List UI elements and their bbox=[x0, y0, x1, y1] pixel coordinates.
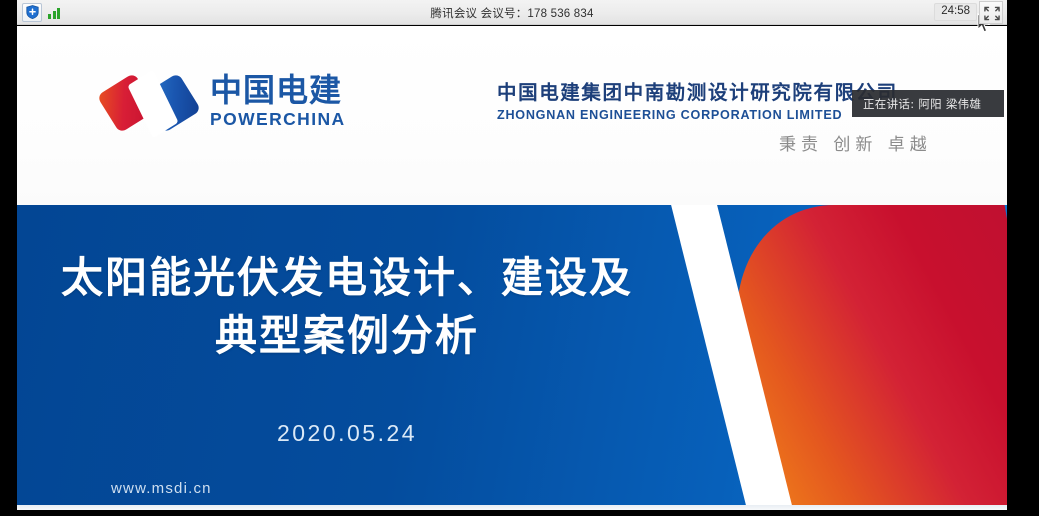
active-speaker-label: 正在讲话: 阿阳 梁伟雄 bbox=[863, 96, 981, 112]
slide-date: 2020.05.24 bbox=[17, 420, 677, 447]
exit-fullscreen-button[interactable] bbox=[979, 1, 1003, 24]
company-name-en: ZHONGNAN ENGINEERING CORPORATION LIMITED bbox=[497, 108, 898, 122]
slide-website-url: www.msdi.cn bbox=[111, 480, 212, 497]
powerchina-diamond-logo-icon bbox=[105, 73, 201, 135]
meeting-titlebar: 腾讯会议 会议号：178 536 834 24:58 bbox=[17, 0, 1007, 25]
active-speaker-toast: 正在讲话: 阿阳 梁伟雄 bbox=[852, 90, 1004, 117]
brand-lockup: 中国电建 POWERCHINA bbox=[210, 74, 346, 130]
exit-fullscreen-icon bbox=[980, 2, 1004, 25]
company-slogan: 秉责 创新 卓越 bbox=[779, 130, 932, 155]
titlebar-right-controls: 24:58 bbox=[934, 1, 1007, 24]
meeting-timer: 24:58 bbox=[934, 3, 977, 22]
slide-title-line-2: 典型案例分析 bbox=[17, 307, 677, 365]
company-lockup: 中国电建集团中南勘测设计研究院有限公司 ZHONGNAN ENGINEERING… bbox=[497, 76, 898, 122]
slide-title: 太阳能光伏发电设计、建设及 典型案例分析 bbox=[17, 249, 677, 365]
slide-title-line-1: 太阳能光伏发电设计、建设及 bbox=[17, 249, 677, 307]
slide-bottom-edge bbox=[17, 505, 1007, 510]
screen-root: 腾讯会议 会议号：178 536 834 24:58 bbox=[0, 0, 1039, 516]
brand-name-cn: 中国电建 bbox=[210, 74, 346, 108]
brand-name-en: POWERCHINA bbox=[210, 109, 346, 130]
slide-hero-band: 太阳能光伏发电设计、建设及 典型案例分析 2020.05.24 www.msdi… bbox=[17, 205, 1007, 505]
company-name-cn: 中国电建集团中南勘测设计研究院有限公司 bbox=[497, 76, 898, 105]
meeting-title: 腾讯会议 会议号：178 536 834 bbox=[17, 0, 1007, 25]
